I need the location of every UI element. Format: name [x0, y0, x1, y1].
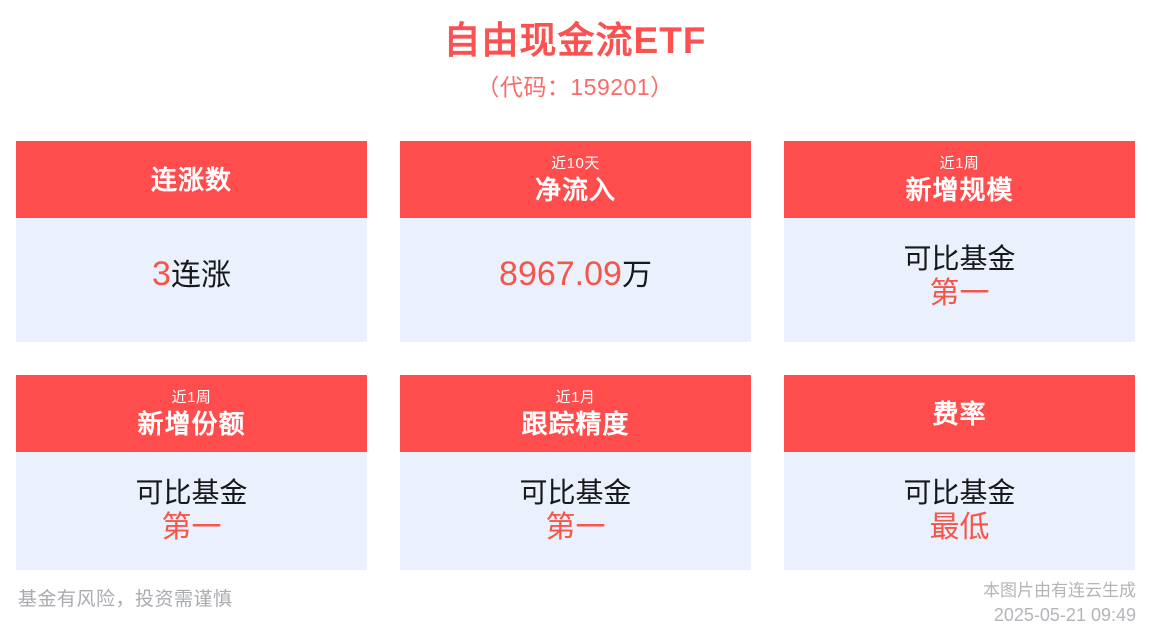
fund-metrics-poster: 自由现金流ETF （代码：159201） 连涨数 3连涨 近10天 净流入 [0, 0, 1150, 632]
card-header: 近1周 新增规模 [784, 141, 1135, 218]
card-header: 近10天 净流入 [400, 141, 751, 218]
credit-timestamp: 2025-05-21 09:49 [983, 603, 1136, 627]
card-header: 费率 [784, 375, 1135, 452]
credit-block: 本图片由有连云生成 2025-05-21 09:49 [983, 579, 1136, 627]
metric-card-fee-rate[interactable]: 费率 可比基金 最低 [784, 375, 1135, 570]
card-metric-label: 跟踪精度 [521, 408, 629, 440]
risk-disclaimer: 基金有风险，投资需谨慎 [18, 587, 233, 613]
card-metric-label: 新增规模 [905, 174, 1013, 206]
card-value-top: 可比基金 [519, 476, 631, 510]
card-value-number: 3 [152, 255, 171, 293]
metric-card-grid: 连涨数 3连涨 近10天 净流入 8967.09万 近1周 [16, 141, 1135, 570]
card-value-unit: 连涨 [171, 259, 231, 292]
card-value-line: 3连涨 [152, 255, 231, 300]
card-period-label: 近1月 [556, 388, 596, 408]
card-period-label: 近10天 [551, 154, 600, 174]
card-value-line: 8967.09万 [499, 255, 652, 300]
metric-card-consecutive-gains[interactable]: 连涨数 3连涨 [16, 141, 367, 342]
metric-card-new-shares[interactable]: 近1周 新增份额 可比基金 第一 [16, 375, 367, 570]
credit-source: 本图片由有连云生成 [983, 579, 1136, 603]
card-value-unit: 万 [622, 259, 652, 292]
card-value-rank: 第一 [546, 510, 606, 546]
metric-card-new-scale[interactable]: 近1周 新增规模 可比基金 第一 [784, 141, 1135, 342]
title-block: 自由现金流ETF （代码：159201） [0, 0, 1150, 104]
card-header: 近1月 跟踪精度 [400, 375, 751, 452]
metric-card-net-inflow[interactable]: 近10天 净流入 8967.09万 [400, 141, 751, 342]
card-period-label: 近1周 [940, 154, 980, 174]
card-body: 可比基金 第一 [16, 452, 367, 570]
card-value-rank: 第一 [930, 276, 990, 312]
card-body: 8967.09万 [400, 218, 751, 342]
card-value-number: 8967.09 [499, 255, 622, 293]
card-value-top: 可比基金 [135, 476, 247, 510]
card-value-top: 可比基金 [903, 242, 1015, 276]
card-body: 可比基金 最低 [784, 452, 1135, 570]
card-value-rank: 最低 [930, 510, 990, 546]
fund-code: （代码：159201） [0, 70, 1150, 104]
card-body: 3连涨 [16, 218, 367, 342]
card-period-label: 近1周 [172, 388, 212, 408]
card-metric-label: 费率 [932, 398, 986, 430]
metric-card-tracking-accuracy[interactable]: 近1月 跟踪精度 可比基金 第一 [400, 375, 751, 570]
card-metric-label: 净流入 [535, 174, 616, 206]
card-body: 可比基金 第一 [400, 452, 751, 570]
card-metric-label: 新增份额 [137, 408, 245, 440]
card-value-top: 可比基金 [903, 476, 1015, 510]
footer: 基金有风险，投资需谨慎 本图片由有连云生成 2025-05-21 09:49 [0, 575, 1150, 632]
card-header: 连涨数 [16, 141, 367, 218]
card-header: 近1周 新增份额 [16, 375, 367, 452]
card-body: 可比基金 第一 [784, 218, 1135, 336]
page-title: 自由现金流ETF [0, 18, 1150, 64]
card-value-rank: 第一 [162, 510, 222, 546]
card-metric-label: 连涨数 [151, 164, 232, 196]
